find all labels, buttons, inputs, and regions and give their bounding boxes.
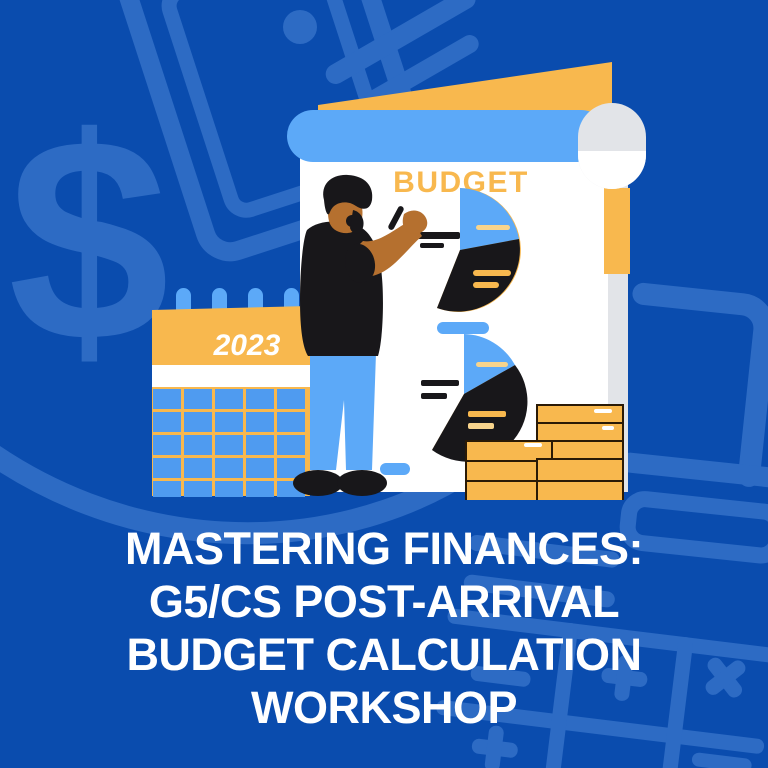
calendar-header-band (152, 365, 310, 387)
poster-title: MASTERING FINANCES: G5/CS POST-ARRIVAL B… (0, 522, 768, 734)
lower-pie-title-bar (437, 322, 489, 334)
title-line-3: BUDGET CALCULATION (40, 628, 728, 681)
board-side-tab (604, 188, 630, 274)
title-line-1: MASTERING FINANCES: (40, 522, 728, 575)
presenter-shoe-right (337, 470, 387, 496)
lower-pie-footer-bar (380, 463, 410, 475)
upper-pie-label-orange-2 (420, 243, 444, 248)
presenter-shoe-left (293, 470, 343, 496)
lower-pie-label-blue (476, 362, 508, 367)
lower-pie-label-dark-1 (468, 411, 506, 417)
calendar: 2023 (152, 288, 310, 497)
title-line-2: G5/CS POST-ARRIVAL (40, 575, 728, 628)
title-line-4: WORKSHOP (40, 681, 728, 734)
poster-canvas: $ (0, 0, 768, 768)
upper-pie-label-dark-2 (473, 282, 499, 288)
lower-pie-label-dark-2 (468, 423, 494, 429)
upper-pie-label-dark-1 (473, 270, 511, 276)
upper-pie-label-blue (476, 225, 510, 230)
lower-pie-label-orange-2 (421, 393, 447, 399)
board-top-roller (287, 110, 607, 162)
lower-pie-label-orange-1 (421, 380, 459, 386)
calendar-year: 2023 (213, 329, 281, 362)
